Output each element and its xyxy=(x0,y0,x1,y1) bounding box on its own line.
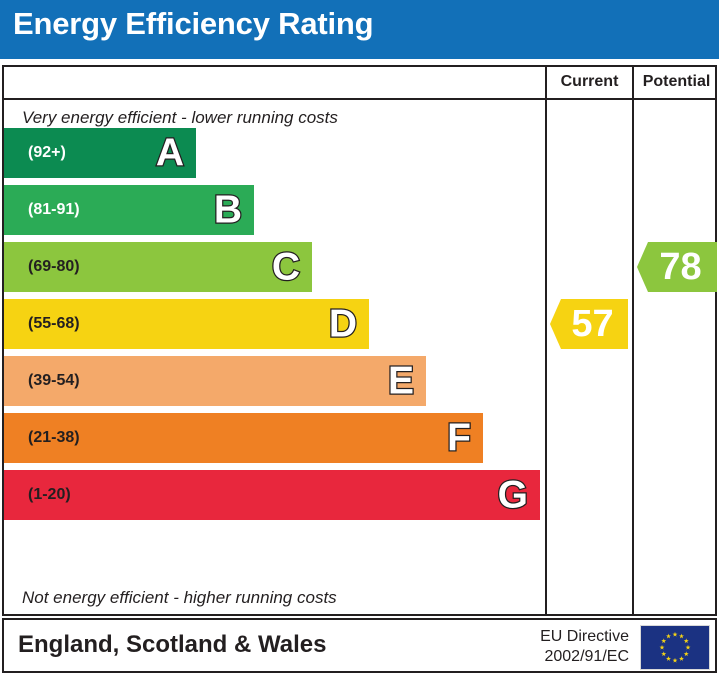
band-range-e: (39-54) xyxy=(28,372,80,390)
footer-directive: EU Directive 2002/91/EC xyxy=(474,627,629,667)
column-divider-current xyxy=(545,67,547,614)
directive-line-2: 2002/91/EC xyxy=(474,647,629,667)
column-divider-potential xyxy=(632,67,634,614)
band-bar-a: (92+)A xyxy=(4,128,196,178)
band-range-d: (55-68) xyxy=(28,315,80,333)
eu-flag-icon xyxy=(640,625,710,670)
epc-certificate-chart: Energy Efficiency Rating Current Potenti… xyxy=(0,0,719,675)
column-header-potential: Potential xyxy=(634,73,719,91)
band-bar-e: (39-54)E xyxy=(4,356,426,406)
potential-rating-marker: 78 xyxy=(637,242,717,292)
band-bars: (92+)A(81-91)B(69-80)C(55-68)D(39-54)E(2… xyxy=(4,67,545,614)
current-rating-marker: 57 xyxy=(550,299,628,349)
band-range-b: (81-91) xyxy=(28,201,80,219)
band-letter-d: D xyxy=(329,305,357,344)
band-bar-f: (21-38)F xyxy=(4,413,483,463)
band-bar-d: (55-68)D xyxy=(4,299,369,349)
current-rating-value: 57 xyxy=(561,305,624,343)
band-letter-a: A xyxy=(156,134,184,173)
footer-region-label: England, Scotland & Wales xyxy=(18,631,326,659)
band-range-f: (21-38) xyxy=(28,429,80,447)
rating-table: Current Potential Very energy efficient … xyxy=(2,65,717,616)
band-bar-c: (69-80)C xyxy=(4,242,312,292)
title-bar: Energy Efficiency Rating xyxy=(0,0,719,59)
column-header-current: Current xyxy=(547,73,632,91)
band-letter-e: E xyxy=(388,362,414,401)
band-letter-f: F xyxy=(447,419,471,458)
footer-bar: England, Scotland & Wales EU Directive 2… xyxy=(2,618,717,673)
band-bar-b: (81-91)B xyxy=(4,185,254,235)
directive-line-1: EU Directive xyxy=(474,627,629,647)
band-range-g: (1-20) xyxy=(28,486,71,504)
band-range-c: (69-80) xyxy=(28,258,80,276)
band-bar-g: (1-20)G xyxy=(4,470,540,520)
band-letter-b: B xyxy=(214,191,242,230)
band-range-a: (92+) xyxy=(28,144,66,162)
band-letter-c: C xyxy=(272,248,300,287)
band-letter-g: G xyxy=(498,476,528,515)
eu-flag-stars xyxy=(641,626,709,669)
potential-rating-value: 78 xyxy=(648,248,713,286)
page-title: Energy Efficiency Rating xyxy=(13,6,373,42)
